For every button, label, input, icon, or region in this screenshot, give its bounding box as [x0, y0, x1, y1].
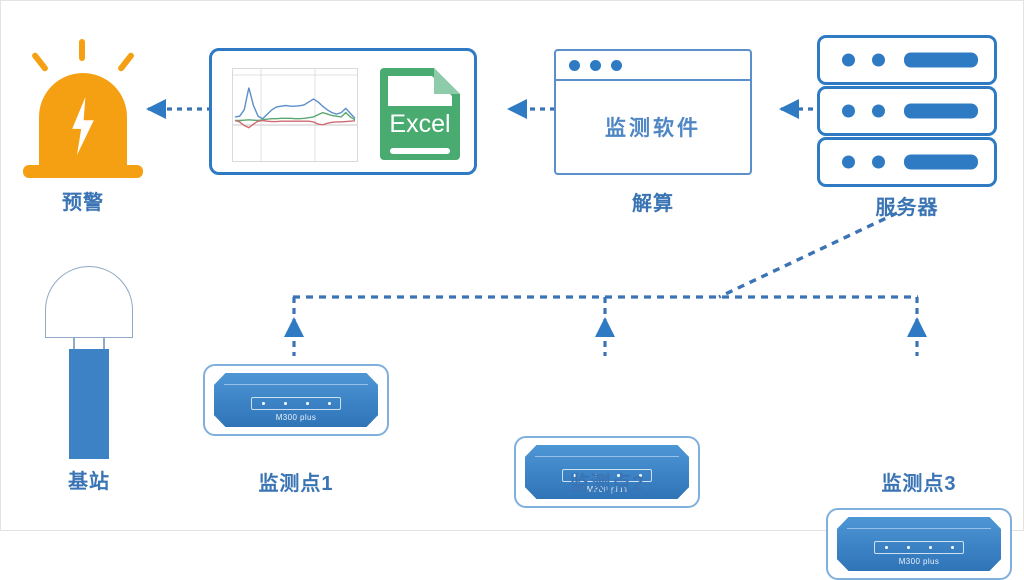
device-model-label: M300 plus — [214, 413, 378, 422]
diagram-canvas: 预警 — [0, 0, 1024, 531]
device-seam — [847, 528, 991, 529]
antenna-dome-icon — [45, 266, 133, 338]
device-led-icon — [929, 546, 932, 549]
device-seam — [535, 456, 679, 457]
arrow-up-icon-1 — [284, 317, 304, 337]
device-led-icon — [306, 402, 309, 405]
uplink-connectors — [1, 1, 1024, 532]
device-led-icon — [328, 402, 331, 405]
device-led-icon — [885, 546, 888, 549]
device-led-icon — [262, 402, 265, 405]
connector-server-to-bus — [719, 213, 897, 297]
device-led-icon — [907, 546, 910, 549]
device-body: M300 plus — [837, 517, 1001, 571]
monitor-point-1-label: 监测点1 — [203, 467, 389, 496]
device-seam — [224, 384, 368, 385]
monitor-point-3-device[interactable]: M300 plus — [826, 508, 1012, 580]
base-station-node[interactable] — [45, 266, 133, 461]
device-led-icon — [284, 402, 287, 405]
monitor-point-3-label: 监测点3 — [826, 467, 1012, 496]
device-led-strip — [874, 541, 964, 554]
monitor-point-1-device[interactable]: M300 plus — [203, 364, 389, 436]
device-led-icon — [951, 546, 954, 549]
arrow-up-icon-2 — [595, 317, 615, 337]
device-body: M300 plus — [214, 373, 378, 427]
device-led-strip — [251, 397, 341, 410]
base-station-label: 基站 — [29, 465, 149, 494]
device-model-label: M300 plus — [837, 557, 1001, 566]
monitor-point-2-label: 监测点2 — [514, 467, 700, 496]
arrow-up-icon-3 — [907, 317, 927, 337]
antenna-post-icon — [69, 349, 109, 459]
